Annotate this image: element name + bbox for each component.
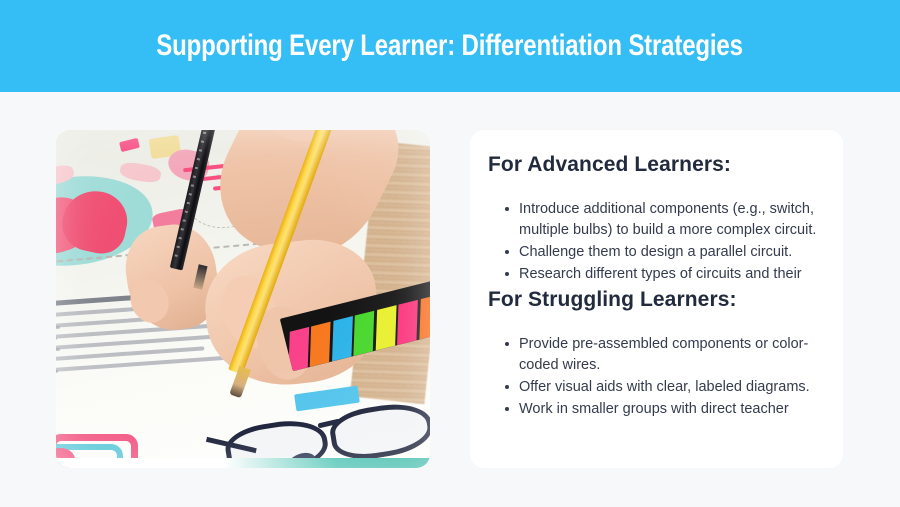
list-item: Introduce additional components (e.g., s… [504,199,817,241]
photo-card [56,130,430,468]
worksheet-photo [56,130,430,468]
bullet-list-advanced: Introduce additional components (e.g., s… [504,199,817,285]
list-item: Research different types of circuits and… [504,264,817,285]
eyeglass-lens-right [327,398,430,464]
list-item: Challenge them to design a parallel circ… [504,242,817,263]
index-tab-orange [310,322,331,367]
bullet-list-struggling: Provide pre-assembled components or colo… [504,334,817,420]
index-tab-green [354,311,375,356]
section-heading-struggling: For Struggling Learners: [488,287,817,312]
text-line [56,337,57,340]
index-tab-orange [419,294,430,339]
index-tab-yellow [376,305,397,350]
list-item: Offer visual aids with clear, labeled di… [504,377,817,398]
index-tab-pink [289,327,310,371]
text-line [56,326,60,329]
teal-bottom-strip [56,458,430,468]
list-item: Provide pre-assembled components or colo… [504,334,817,376]
content-card: For Advanced Learners: Introduce additio… [470,130,843,468]
content-card-body: For Advanced Learners: Introduce additio… [470,130,843,419]
text-line [56,370,58,373]
text-line [56,348,60,351]
page-title: Supporting Every Learner: Differentiatio… [157,31,743,61]
index-tab-magenta [397,300,418,345]
section-heading-advanced: For Advanced Learners: [488,152,817,177]
index-tab-blue [332,316,353,361]
worksheet-side-text [56,326,60,392]
list-item: Work in smaller groups with direct teach… [504,399,817,420]
slide-root: Supporting Every Learner: Differentiatio… [0,0,900,507]
header-banner: Supporting Every Learner: Differentiatio… [0,0,900,92]
